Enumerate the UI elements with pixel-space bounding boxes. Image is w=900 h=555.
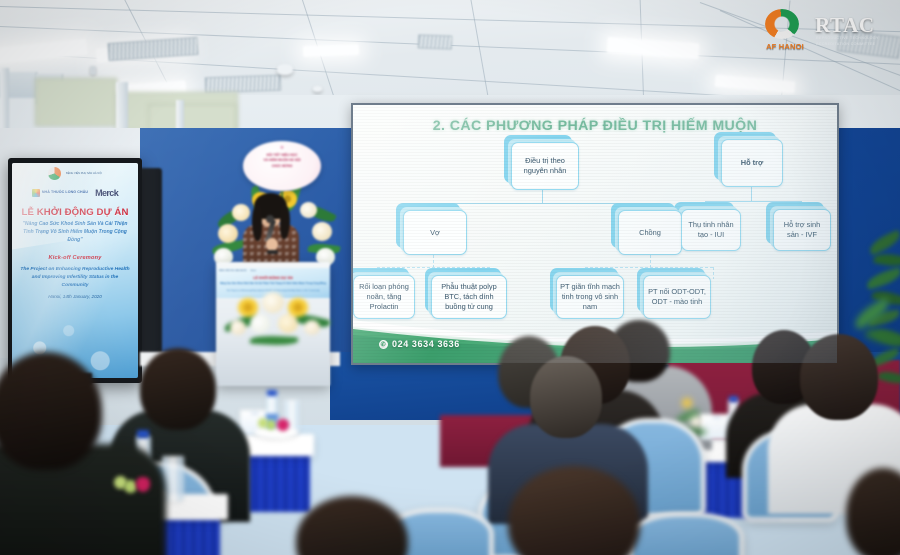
node-label: Vợ [403,210,467,255]
fruit-dragonfruit [136,477,150,492]
ceiling-light [0,39,88,66]
rtac-sub-line-2: ACCREDITATION COMMITTEE [816,42,875,46]
poster-content: BỆNH VIỆN PHỤ SẢN HÀ NỘI NHÀ THUỐC LONG … [12,163,138,378]
bottle-cap [267,390,277,396]
screenshot-root: 2. CÁC PHƯƠNG PHÁP ĐIỀU TRỊ HIẾM MUỘN [0,0,900,555]
name-card-text: Đại biểu [241,413,269,416]
ceiling-vent [107,37,198,61]
speaker-hair-left [252,205,262,241]
rtac-sub-line-1: REPRODUCTIVE TECHNOLOGY [816,36,879,40]
node-label: Hỗ trợ [721,139,783,187]
bottle-cap [137,430,149,438]
af-hanoi-swirl-icon [765,9,799,39]
audience-head [140,348,216,430]
slide-content: 2. CÁC PHƯƠNG PHÁP ĐIỀU TRỊ HIẾM MUỘN [353,105,837,363]
af-hanoi-logo: AF HANOI [762,7,808,51]
ceiling-vent [205,75,282,94]
wall-column [116,82,128,134]
audience-head [800,334,878,420]
fruit-grape [266,420,276,430]
flower-arrangement-podium [224,292,328,350]
audience-chair [628,512,744,555]
ceiling-light [607,37,700,59]
sprinkler-head [90,66,96,75]
bottle-cap [729,396,738,402]
node-wife: Vợ [403,210,467,255]
node-label: Hỗ trợ sinh sản - IVF [773,209,831,251]
slide-footer-phone: ✆ 024 3634 3636 [379,339,460,349]
speaker-watch [267,250,278,254]
node-label: Điều trị theo nguyên nhân [511,142,579,190]
smoke-detector [277,64,293,75]
node-iui: Thụ tinh nhân tạo - IUI [681,209,741,251]
podium-banner-headline: LỄ KHỞI ĐỘNG DỰ ÁN [216,276,330,280]
table-skirt [248,452,310,512]
poster-display: BỆNH VIỆN PHỤ SẢN HÀ NỘI NHÀ THUỐC LONG … [8,158,142,383]
rtac-logo: RTAC REPRODUCTIVE TECHNOLOGY ACCREDITATI… [813,7,895,51]
rtac-label: RTAC [815,13,875,38]
microphone-head [266,215,274,223]
flower-sign-line-3: CHÚC MỪNG [249,164,315,169]
perforated-wall-panel [35,78,117,126]
node-cause-treatment: Điều trị theo nguyên nhân [511,142,579,190]
audience-head-foreground [296,496,408,555]
node-support: Hỗ trợ [721,139,783,187]
podium-banner-sub-vi: Nâng Cao Sức Khoẻ Sinh Sản Và Cải Thiện … [219,282,327,286]
audience-head [530,356,602,438]
phone-number: 024 3634 3636 [392,339,460,349]
ceiling-vent [418,34,452,49]
podium-logo-merck: Merck [251,270,256,272]
flower-congratulation-sign: ❀ HỘI TIẾT NIỆU HỌC VÀ HIẾM MUỘN HÀ NỘI … [243,141,321,191]
node-label: Thụ tinh nhân tạo - IUI [681,209,741,251]
ceiling-light [303,44,359,57]
audience-head-foreground [0,352,102,470]
podium-banner-logos: BỆNH VIỆN PHỤ SẢN HÀ NỘI Merck [219,270,256,272]
podium-logo-hospital: BỆNH VIỆN PHỤ SẢN HÀ NỘI [219,270,247,272]
af-hanoi-label: AF HANOI [762,42,808,51]
flower-sign-decor-icon: ❀ [280,145,284,151]
phone-icon: ✆ [379,340,388,349]
node-husband: Chồng [618,210,682,255]
fruit-dragonfruit [277,419,289,431]
node-label: Chồng [618,210,682,255]
flower-sign-text: HỘI TIẾT NIỆU HỌC VÀ HIẾM MUỘN HÀ NỘI CH… [249,153,315,169]
smoke-detector [313,86,322,92]
node-ivf: Hỗ trợ sinh sản - IVF [773,209,831,251]
watermark-logos: AF HANOI RTAC REPRODUCTIVE TECHNOLOGY AC… [762,4,896,54]
